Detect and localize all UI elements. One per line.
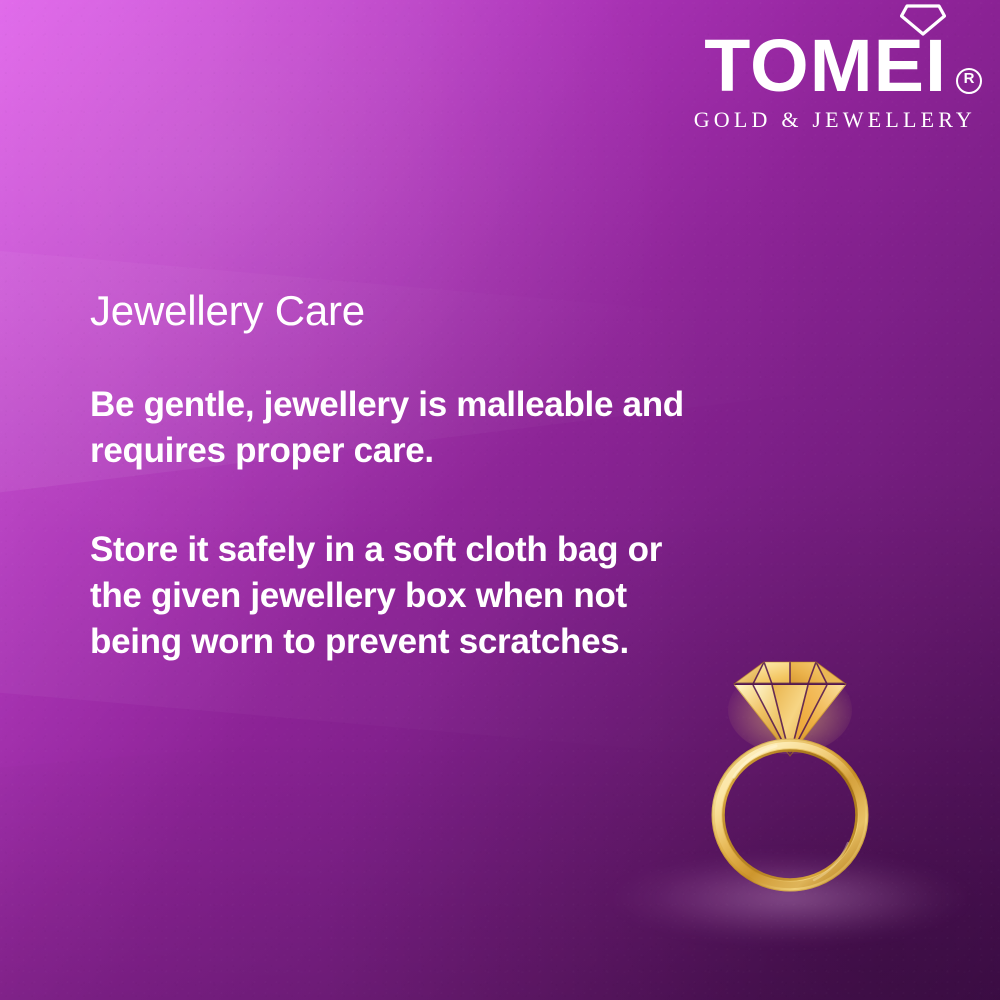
brand-wordmark: TOMEI (704, 32, 947, 100)
logo-wordmark-row: TOMEI R (652, 20, 982, 100)
page-title: Jewellery Care (90, 288, 690, 334)
jewellery-care-infographic: TOMEI R GOLD & JEWELLERY Jewellery Care … (0, 0, 1000, 1000)
registered-trademark-icon: R (956, 68, 982, 94)
care-paragraph-1: Be gentle, jewellery is malleable and re… (90, 382, 690, 474)
gold-diamond-ring-illustration (690, 638, 890, 898)
ring-band-icon (712, 739, 868, 891)
care-paragraph-2: Store it safely in a soft cloth bag or t… (90, 527, 690, 666)
brand-tagline: GOLD & JEWELLERY (652, 107, 982, 133)
care-copy-block: Jewellery Care Be gentle, jewellery is m… (90, 288, 690, 665)
tomei-logo: TOMEI R GOLD & JEWELLERY (652, 20, 982, 133)
